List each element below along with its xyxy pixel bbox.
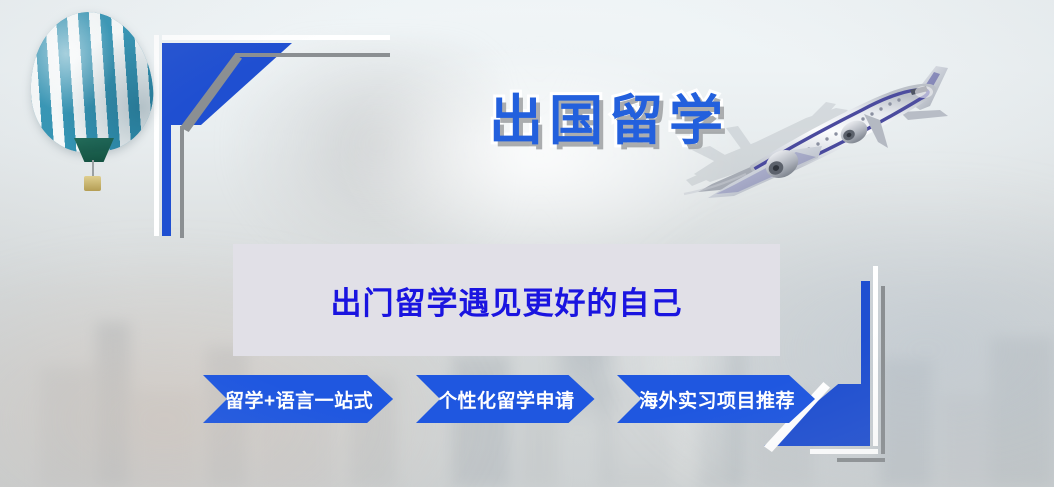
page-title: 出国留学 (489, 76, 729, 155)
feature-badge-3[interactable]: 海外实习项目推荐 (617, 375, 815, 423)
frame-gray-horizontal-line (837, 458, 885, 462)
subtitle-text: 出门留学遇见更好的自己 (233, 244, 780, 356)
feature-badge-1[interactable]: 留学+语言一站式 (203, 375, 393, 423)
frame-gray-vertical-line (881, 286, 885, 454)
frame-gray-vertical-line (180, 126, 184, 238)
frame-blue-stem (162, 43, 171, 236)
feature-badge-2[interactable]: 个性化留学申请 (416, 375, 595, 423)
study-abroad-banner: 出国留学 出门留学遇见更好的自己 留学+语言一站式 个性化留学申请 海外实习项目… (0, 0, 1054, 487)
corner-bracket-icon (140, 40, 390, 240)
frame-white-horizontal-line (162, 35, 390, 40)
hot-air-balloon-icon (30, 12, 160, 207)
frame-white-horizontal-line (810, 449, 878, 454)
feature-badge-row: 留学+语言一站式 个性化留学申请 海外实习项目推荐 (0, 375, 1054, 423)
plane-nose-highlight (915, 86, 933, 98)
balloon-basket (84, 176, 101, 191)
frame-gray-horizontal-line (235, 53, 390, 57)
